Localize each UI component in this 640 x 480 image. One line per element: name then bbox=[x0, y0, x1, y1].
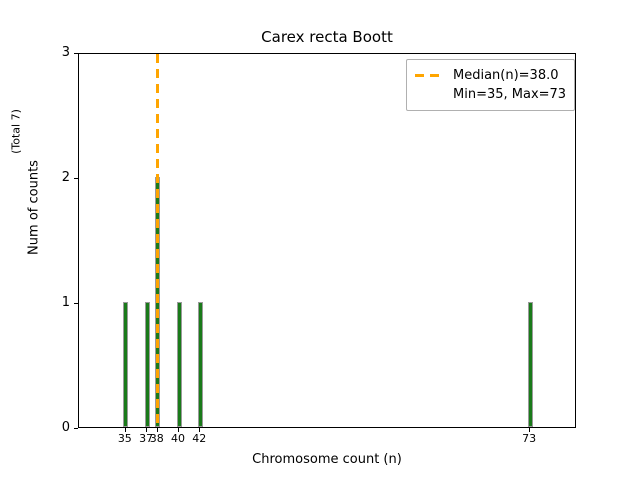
bar bbox=[528, 302, 533, 427]
legend-entry: Min=35, Max=73 bbox=[415, 85, 566, 104]
bar bbox=[177, 302, 182, 427]
x-axis-tick-label: 35 bbox=[118, 432, 132, 445]
chart-legend: Median(n)=38.0Min=35, Max=73 bbox=[406, 59, 575, 111]
y-axis-tick-label: 0 bbox=[52, 420, 70, 435]
y-axis-label: Num of counts bbox=[27, 108, 42, 308]
legend-swatch-blank bbox=[415, 90, 445, 100]
median-line bbox=[156, 54, 159, 427]
legend-entry: Median(n)=38.0 bbox=[415, 66, 566, 85]
dashed-line-icon bbox=[415, 71, 445, 81]
legend-label: Min=35, Max=73 bbox=[453, 87, 566, 102]
x-axis-tick-label: 73 bbox=[522, 432, 536, 445]
bar bbox=[198, 302, 203, 427]
x-axis-tick-label: 38 bbox=[150, 432, 164, 445]
bar bbox=[145, 302, 150, 427]
y-axis-tick-label: 3 bbox=[52, 45, 70, 60]
y-axis-tick-label: 1 bbox=[52, 295, 70, 310]
page-title: Carex recta Boott bbox=[78, 28, 576, 46]
x-axis-label: Chromosome count (n) bbox=[78, 452, 576, 467]
bar bbox=[123, 302, 128, 427]
chart-figure: Carex recta Boott Num of counts (Total 7… bbox=[0, 0, 640, 480]
y-axis-sublabel: (Total 7) bbox=[10, 72, 23, 192]
x-axis-tick-label: 42 bbox=[192, 432, 206, 445]
legend-label: Median(n)=38.0 bbox=[453, 68, 559, 83]
y-axis-tick bbox=[74, 428, 78, 429]
x-axis-tick-label: 40 bbox=[171, 432, 185, 445]
y-axis-tick-label: 2 bbox=[52, 170, 70, 185]
